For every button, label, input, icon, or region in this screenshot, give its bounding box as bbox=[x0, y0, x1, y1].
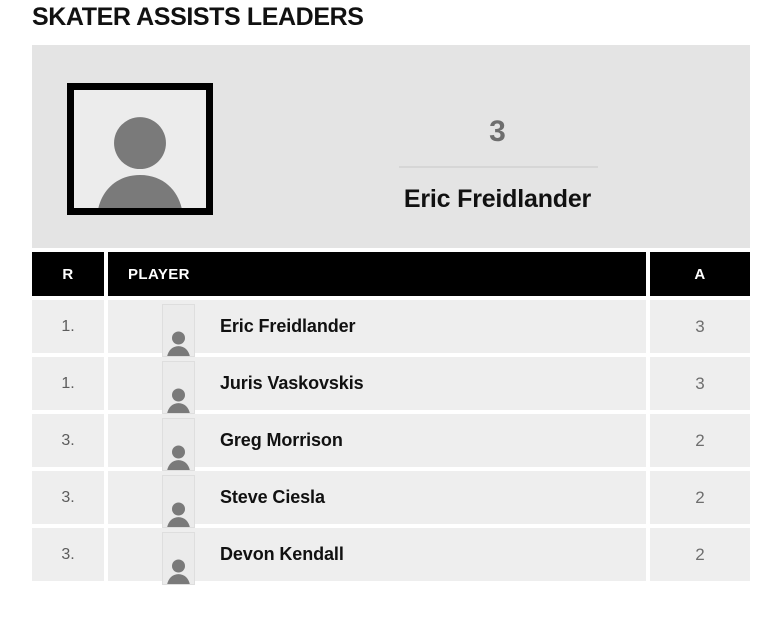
table-header-row: R PLAYER A bbox=[32, 252, 750, 296]
table-row[interactable]: 1. Juris Vaskovskis 3 bbox=[32, 357, 750, 410]
row-player-thumbnail bbox=[162, 304, 195, 357]
featured-player-info: 3 Eric Freidlander bbox=[245, 45, 750, 248]
row-assists: 2 bbox=[650, 414, 750, 467]
leaderboard-table: R PLAYER A 1. Eric Freidlander 3 1. bbox=[32, 252, 750, 581]
row-player-name: Greg Morrison bbox=[220, 414, 343, 467]
row-player-name: Juris Vaskovskis bbox=[220, 357, 364, 410]
row-player-cell[interactable]: Steve Ciesla bbox=[108, 471, 646, 524]
skater-assists-leaders-widget: SKATER ASSISTS LEADERS 3 Eric Freidlande… bbox=[0, 0, 780, 620]
row-player-thumbnail bbox=[162, 418, 195, 471]
person-placeholder-icon bbox=[74, 90, 206, 208]
page-title: SKATER ASSISTS LEADERS bbox=[32, 2, 364, 32]
table-row[interactable]: 3. Devon Kendall 2 bbox=[32, 528, 750, 581]
row-assists: 2 bbox=[650, 471, 750, 524]
table-row[interactable]: 3. Greg Morrison 2 bbox=[32, 414, 750, 467]
person-placeholder-icon bbox=[163, 305, 194, 356]
column-header-assists[interactable]: A bbox=[650, 252, 750, 296]
row-rank: 3. bbox=[32, 471, 104, 524]
person-placeholder-icon bbox=[163, 533, 194, 584]
row-rank: 3. bbox=[32, 528, 104, 581]
featured-divider bbox=[399, 166, 598, 168]
row-assists: 2 bbox=[650, 528, 750, 581]
person-placeholder-icon bbox=[163, 362, 194, 413]
row-player-thumbnail bbox=[162, 475, 195, 528]
row-assists: 3 bbox=[650, 357, 750, 410]
table-row[interactable]: 1. Eric Freidlander 3 bbox=[32, 300, 750, 353]
row-player-name: Devon Kendall bbox=[220, 528, 344, 581]
row-player-name: Eric Freidlander bbox=[220, 300, 355, 353]
person-placeholder-icon bbox=[163, 419, 194, 470]
row-rank: 1. bbox=[32, 357, 104, 410]
row-assists: 3 bbox=[650, 300, 750, 353]
row-player-thumbnail bbox=[162, 361, 195, 414]
featured-player-name: Eric Freidlander bbox=[245, 184, 750, 214]
featured-leader-card: 3 Eric Freidlander bbox=[32, 45, 750, 248]
column-header-player[interactable]: PLAYER bbox=[108, 252, 646, 296]
row-player-cell[interactable]: Greg Morrison bbox=[108, 414, 646, 467]
row-player-cell[interactable]: Devon Kendall bbox=[108, 528, 646, 581]
table-row[interactable]: 3. Steve Ciesla 2 bbox=[32, 471, 750, 524]
row-player-thumbnail bbox=[162, 532, 195, 585]
column-header-rank[interactable]: R bbox=[32, 252, 104, 296]
featured-stat-value: 3 bbox=[245, 116, 750, 148]
row-rank: 3. bbox=[32, 414, 104, 467]
row-player-cell[interactable]: Eric Freidlander bbox=[108, 300, 646, 353]
row-player-name: Steve Ciesla bbox=[220, 471, 325, 524]
featured-player-photo bbox=[67, 83, 213, 215]
person-placeholder-icon bbox=[163, 476, 194, 527]
row-player-cell[interactable]: Juris Vaskovskis bbox=[108, 357, 646, 410]
row-rank: 1. bbox=[32, 300, 104, 353]
